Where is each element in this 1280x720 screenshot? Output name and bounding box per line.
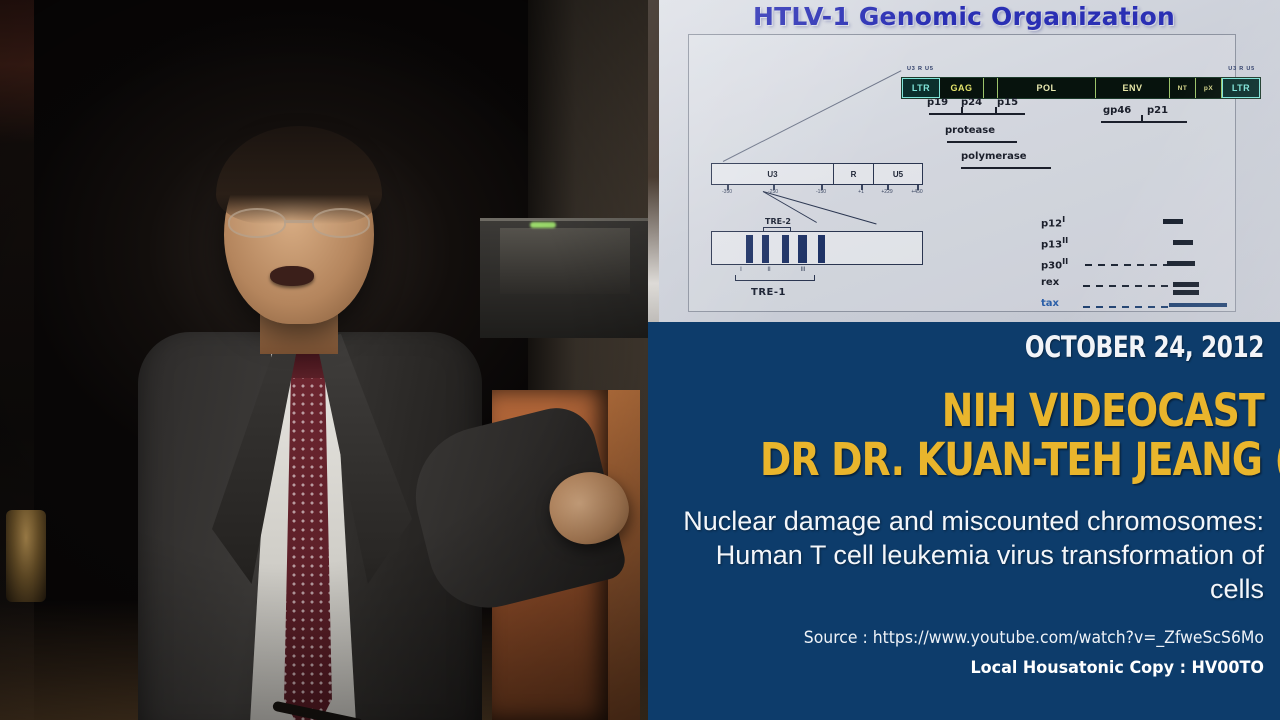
genome-bar: LTR GAG POL ENV NT pX LTR: [901, 77, 1261, 99]
protein-label-p30: p30II: [1041, 256, 1068, 271]
genome-segment-pol: POL: [998, 78, 1096, 98]
talk-subtitle: Nuclear damage and miscounted chromosome…: [664, 504, 1264, 606]
repeat-bar-5: [818, 235, 825, 263]
protease-rule: [947, 141, 1017, 143]
source-url[interactable]: Source : https://www.youtube.com/watch?v…: [712, 628, 1264, 648]
repeat-numbers: I II III: [735, 267, 815, 275]
env-products-rule: [1101, 121, 1187, 123]
protein-intron-tax: [1083, 306, 1171, 308]
gag-tick-1: [961, 107, 963, 113]
annotation-p21: p21: [1147, 105, 1168, 116]
info-panel: OCTOBER 24, 2012 NIH VIDEOCAST DR DR. KU…: [648, 322, 1280, 720]
annotation-polymerase: polymerase: [961, 151, 1027, 162]
polymerase-rule: [961, 167, 1051, 169]
slide-title: HTLV-1 Genomic Organization: [648, 2, 1280, 31]
protein-label-p12: p12I: [1041, 214, 1065, 229]
repeat-bar-3: [782, 235, 789, 263]
protein-intron-p30: [1085, 264, 1167, 266]
protein-exon-tax: [1169, 303, 1227, 307]
ltr-flank-label-left: U3 R U5: [907, 66, 934, 72]
repeat-bar-4: [798, 235, 807, 263]
video-pane[interactable]: [0, 0, 648, 720]
repeat-bar-2: [762, 235, 769, 263]
ltr-expansion-bar: U3 R U5: [711, 163, 923, 185]
program-title: NIH VIDEOCAST: [760, 388, 1264, 433]
speaker-mouth: [270, 266, 314, 286]
protein-intron-rex: [1083, 285, 1175, 287]
protein-label-p13: p13II: [1041, 235, 1068, 250]
genome-segment-ltr-left: LTR: [902, 78, 940, 98]
genome-segment-px: pX: [1196, 78, 1222, 98]
annotation-gp46: gp46: [1103, 105, 1131, 116]
annotation-p24: p24: [961, 97, 982, 108]
tre1-label: TRE-1: [751, 287, 786, 298]
gag-tick-2: [995, 107, 997, 113]
glasses-lens-right: [312, 208, 370, 238]
env-tick-1: [1141, 115, 1143, 121]
protein-exon-rex-1: [1173, 282, 1199, 287]
genome-segment-ltr-right: LTR: [1222, 78, 1260, 98]
protein-exon-p13: [1173, 240, 1193, 245]
title-block: NIH VIDEOCAST DR DR. KUAN-TEH JEANG (NIA…: [664, 388, 1264, 482]
protein-label-rex: rex: [1041, 277, 1059, 288]
genome-segment-env: ENV: [1096, 78, 1170, 98]
repeat-bar-1: [746, 235, 753, 263]
tre1-bracket: [735, 275, 815, 281]
speaker-glasses: [228, 208, 370, 238]
repeat-number-1: I: [740, 267, 742, 273]
ltr-segment-u3: U3: [712, 164, 834, 184]
glasses-lens-left: [228, 208, 286, 238]
speaker-figure: [120, 120, 540, 720]
ltr-segment-u5: U5: [874, 164, 922, 184]
annotation-p19: p19: [927, 97, 948, 108]
screenshot-root: HTLV-1 Genomic Organization U3 R U5 U3 R…: [0, 0, 1280, 720]
slide-content-frame: U3 R U5 U3 R U5 LTR GAG POL ENV NT pX LT…: [688, 34, 1236, 312]
tre2-label: TRE-2: [765, 217, 791, 226]
glasses-bridge: [284, 220, 314, 223]
tre1-repeat-box: [711, 231, 923, 265]
ltr-segment-r: R: [834, 164, 874, 184]
repeat-number-2: II: [767, 267, 770, 273]
lecture-slide-pane: HTLV-1 Genomic Organization U3 R U5 U3 R…: [648, 0, 1280, 322]
protein-label-tax: tax: [1041, 298, 1059, 309]
annotation-protease: protease: [945, 125, 995, 136]
leader-line-ltr: [723, 70, 902, 162]
local-copy-id: Local Housatonic Copy : HV00TO: [700, 658, 1264, 678]
protein-exon-p12: [1163, 219, 1183, 224]
genome-segment-spacer: [984, 78, 998, 98]
repeat-number-3: III: [800, 267, 805, 273]
stage-lamp: [6, 510, 46, 602]
expansion-fan-lines: [719, 191, 915, 227]
annotation-p15: p15: [997, 97, 1018, 108]
speaker-title: DR DR. KUAN-TEH JEANG (NIAID): [760, 437, 1264, 482]
protein-exon-rex-2: [1173, 290, 1199, 295]
genome-segment-nt: NT: [1170, 78, 1196, 98]
lecture-date: OCTOBER 24, 2012: [784, 330, 1264, 364]
ltr-flank-label-right: U3 R U5: [1228, 66, 1255, 72]
gag-products-rule: [929, 113, 1025, 115]
protein-exon-p30: [1167, 261, 1195, 266]
slide-left-shadow: [648, 0, 659, 322]
genome-segment-gag: GAG: [940, 78, 984, 98]
